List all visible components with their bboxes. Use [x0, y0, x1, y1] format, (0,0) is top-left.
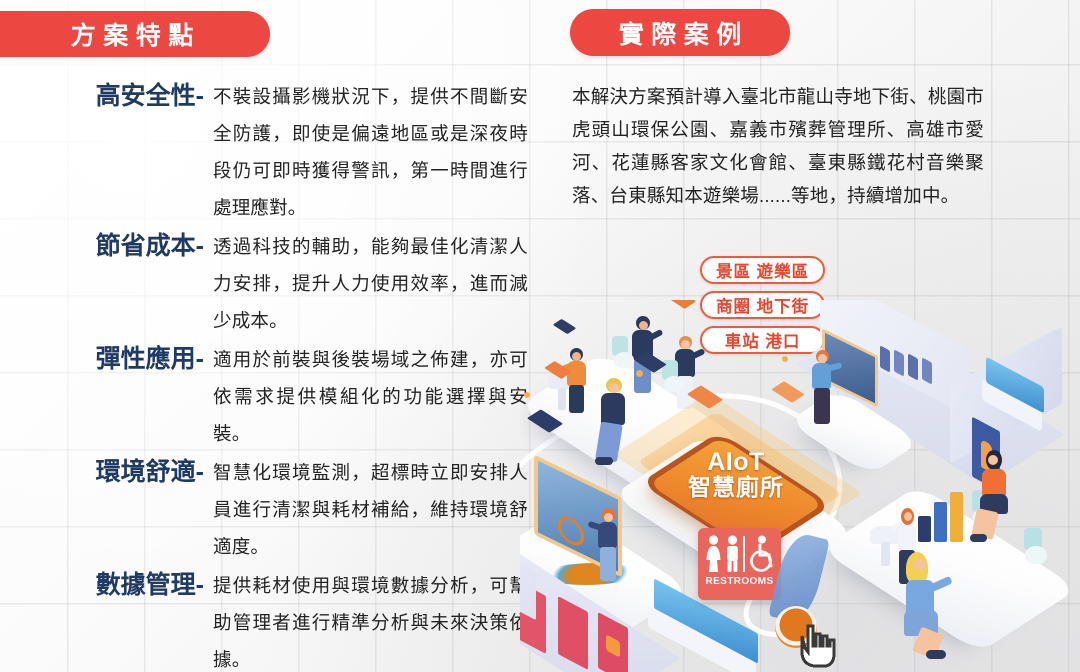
person-face: [604, 513, 613, 522]
person-seated-blonde: [900, 552, 970, 662]
person-legs: [600, 547, 616, 581]
person-face: [609, 383, 619, 393]
case-study-paragraph: 本解決方案預計導入臺北市龍山寺地下街、桃園市虎頭山環保公園、嘉義市殯葬管理所、高…: [572, 80, 984, 212]
toilet-bowl: [614, 352, 634, 368]
restroom-sign-glyphs: [705, 533, 774, 575]
urinal-icon: [908, 353, 918, 380]
feature-item: 環境舒適- 智慧化環境監測，超標時立即安排人員進行清潔與耗材補給，維持環境舒適度…: [58, 454, 528, 565]
person-face: [904, 512, 912, 521]
section-title-features: 方案特點: [0, 11, 270, 57]
urinal-icon: [894, 349, 904, 376]
person-face: [681, 340, 690, 349]
feature-description: 適用於前裝與後裝場域之佈建，亦可依需求提供模組化的功能選擇與安裝。: [206, 341, 528, 452]
feature-term: 環境舒適-: [58, 454, 206, 491]
feature-item: 節省成本- 透過科技的輔助，能夠最佳化清潔人力安排，提升人力使用效率，進而減少成…: [58, 228, 528, 339]
person-at-sink: [564, 348, 592, 414]
man-icon: [725, 534, 740, 574]
data-dot-icon: [782, 356, 788, 362]
feature-description: 提供耗材使用與環境數據分析，可幫助管理者進行精準分析與未來決策依據。: [206, 567, 528, 672]
person-torso: [982, 469, 1006, 497]
person-arm: [929, 576, 952, 592]
isometric-smart-restroom-illustration: AIoT 智慧廁所: [520, 300, 1080, 672]
data-dot-icon: [636, 370, 643, 377]
person-face: [914, 559, 925, 571]
person-face: [988, 455, 998, 465]
toilet-bowl: [1025, 546, 1047, 564]
feature-term: 高安全性-: [58, 78, 206, 115]
person-seated-orange: [974, 450, 1026, 544]
restrooms-sign-label: RESTROOMS: [705, 576, 773, 587]
hand-pointer-cursor[interactable]: [792, 618, 840, 670]
person-using-panel: [810, 350, 838, 430]
person-at-kiosk: [596, 508, 624, 586]
person-shoe: [970, 534, 987, 542]
person-legs: [569, 385, 584, 413]
scenario-chip-label: 景區 遊樂區: [716, 258, 809, 282]
person-shoe: [926, 650, 946, 659]
section-title-case-studies-label: 實際案例: [611, 15, 749, 51]
data-dot-icon: [524, 392, 530, 398]
person-torso: [898, 525, 916, 551]
feature-term: 彈性應用-: [58, 341, 206, 378]
feature-description: 智慧化環境監測，超標時立即安排人員進行清潔與耗材補給，維持環境舒適度。: [206, 454, 528, 565]
restrooms-sign: RESTROOMS: [698, 528, 781, 600]
feature-item: 高安全性- 不裝設攝影機狀況下，提供不間斷安全防護，即使是偏遠地區或是深夜時段仍…: [58, 78, 528, 226]
toilet-bowl: [664, 376, 684, 392]
sign-divider: [743, 536, 745, 572]
section-title-features-label: 方案特點: [63, 16, 201, 52]
person-shoe: [595, 457, 613, 465]
feature-description: 不裝設攝影機狀況下，提供不間斷安全防護，即使是偏遠地區或是深夜時段仍可即時獲得警…: [206, 78, 528, 226]
urinal-icon: [880, 345, 890, 372]
feature-item: 彈性應用- 適用於前裝與後裝場域之佈建，亦可依需求提供模組化的功能選擇與安裝。: [58, 341, 528, 452]
person-torso: [601, 393, 625, 425]
scenario-chip-scenic: 景區 遊樂區: [700, 256, 825, 284]
person-legs: [814, 388, 830, 424]
feature-term: 數據管理-: [58, 567, 206, 604]
feature-item: 數據管理- 提供耗材使用與環境數據分析，可幫助管理者進行精準分析與未來決策依據。: [58, 567, 528, 672]
feature-list: 高安全性- 不裝設攝影機狀況下，提供不間斷安全防護，即使是偏遠地區或是深夜時段仍…: [58, 78, 528, 672]
person-face: [639, 321, 648, 330]
bar-chart-icon: [950, 492, 963, 542]
section-title-case-studies: 實際案例: [570, 9, 790, 56]
woman-icon: [705, 534, 722, 574]
wheelchair-icon: [748, 534, 774, 574]
person-face: [572, 352, 581, 361]
person-face: [818, 354, 827, 363]
feature-description: 透過科技的輔助，能夠最佳化清潔人力安排，提升人力使用效率，進而減少成本。: [206, 228, 528, 339]
sink-pedestal: [881, 542, 890, 566]
feature-term: 節省成本-: [58, 228, 206, 265]
urinal-icon: [922, 357, 932, 384]
bar-chart-icon: [934, 502, 947, 542]
